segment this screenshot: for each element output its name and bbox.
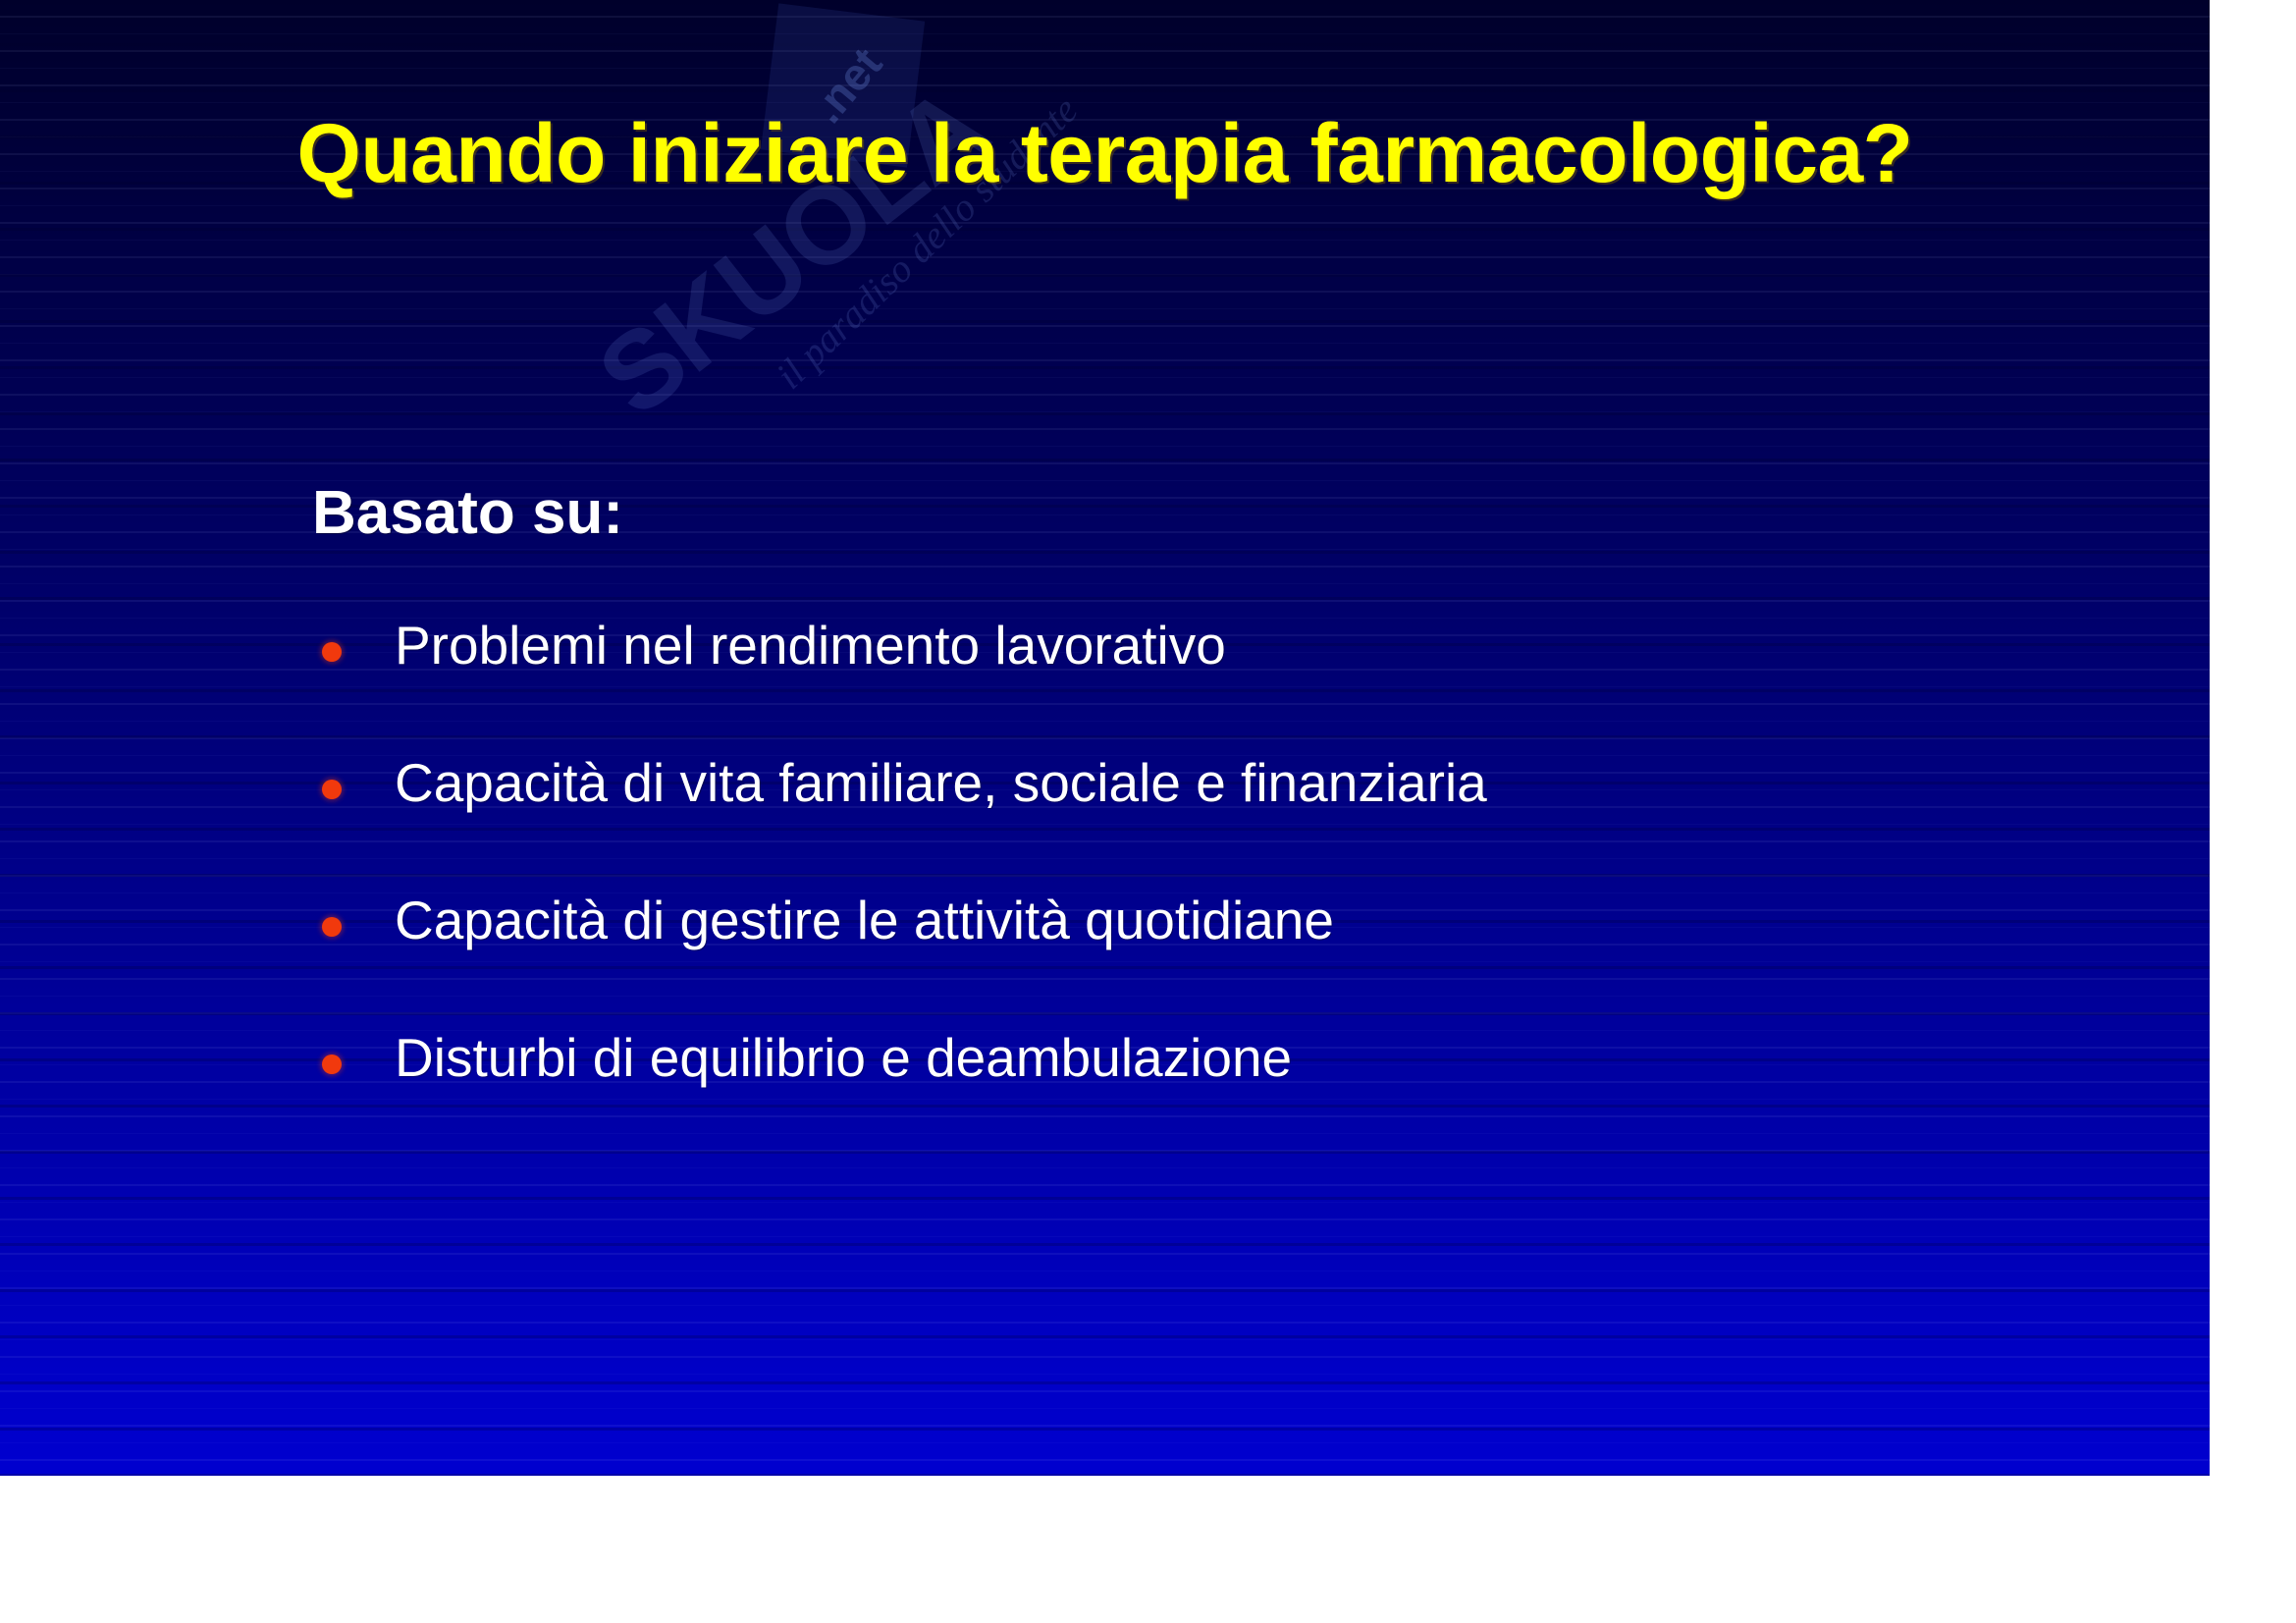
slide-canvas: SKUOLA .net il paradiso dello studente Q… <box>0 0 2210 1476</box>
bullet-text: Disturbi di equilibrio e deambulazione <box>395 1031 1292 1085</box>
slide-body: Basato su: Problemi nel rendimento lavor… <box>312 478 2128 1168</box>
bullet-marker-icon <box>322 642 342 662</box>
list-item: Disturbi di equilibrio e deambulazione <box>312 1031 2128 1168</box>
slide-title: Quando iniziare la terapia farmacologica… <box>0 106 2210 201</box>
bullet-text: Capacità di vita familiare, sociale e fi… <box>395 756 1487 810</box>
bullet-marker-icon <box>322 917 342 937</box>
bullet-marker-icon <box>322 1055 342 1074</box>
bullet-marker-icon <box>322 780 342 799</box>
slide-subheading: Basato su: <box>312 478 2128 548</box>
list-item: Problemi nel rendimento lavorativo <box>312 619 2128 756</box>
bullet-text: Problemi nel rendimento lavorativo <box>395 619 1226 673</box>
list-item: Capacità di vita familiare, sociale e fi… <box>312 756 2128 893</box>
list-item: Capacità di gestire le attività quotidia… <box>312 893 2128 1031</box>
bullet-text: Capacità di gestire le attività quotidia… <box>395 893 1334 947</box>
